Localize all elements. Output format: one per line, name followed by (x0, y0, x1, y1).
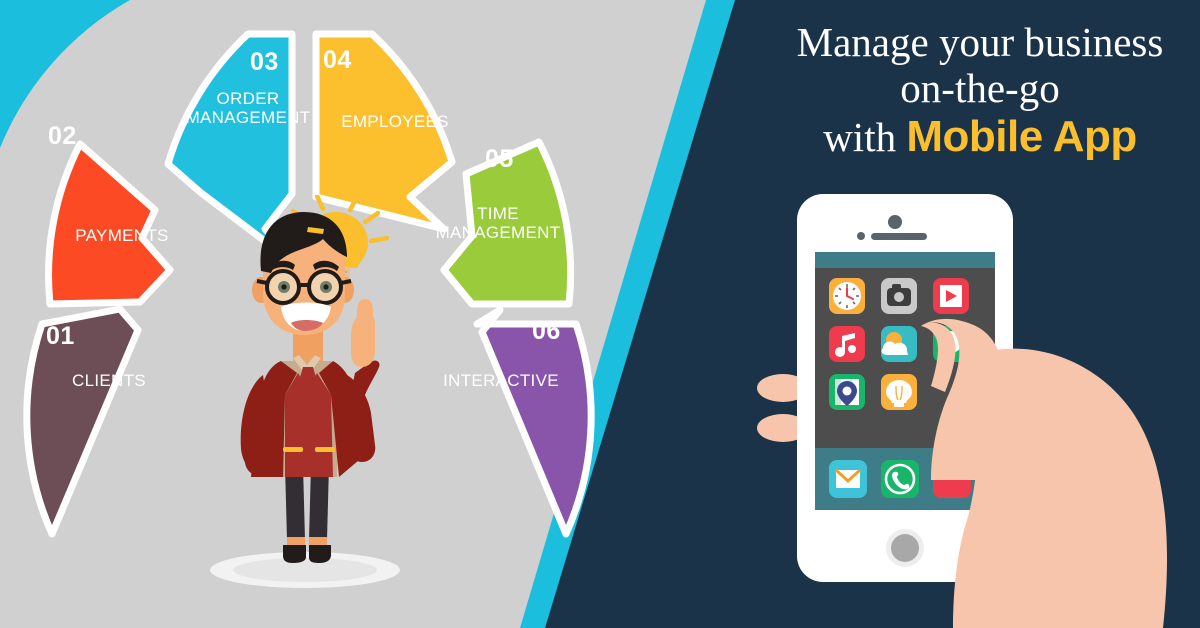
earpiece-speaker (871, 233, 927, 240)
infographic-banner: 02 03 04 05 06 01 CLIENTS PAYMENTS ORDER… (0, 0, 1200, 628)
status-bar (815, 252, 995, 268)
sock-left (287, 537, 305, 546)
floor-shadow-inner (233, 558, 377, 582)
wheel-segment-06[interactable] (477, 310, 591, 534)
front-camera-icon (888, 215, 902, 229)
home-button[interactable] (891, 534, 919, 562)
weather-app-icon[interactable] (881, 326, 917, 362)
phone-and-hand (735, 180, 1200, 628)
pupil-left (281, 284, 286, 289)
headline-line-2: on-the-go (770, 66, 1190, 112)
headline-line-3: with Mobile App (770, 112, 1190, 161)
shoe-right (309, 545, 331, 563)
character-svg (205, 195, 425, 595)
index-finger (357, 299, 373, 331)
mail-app-icon[interactable] (829, 460, 867, 498)
pocket-right (315, 447, 335, 452)
headline-block: Manage your business on-the-go with Mobi… (770, 20, 1190, 161)
phone-svg (735, 180, 1200, 628)
camera-app-icon[interactable] (881, 278, 917, 314)
wheel-segment-02[interactable] (49, 144, 170, 304)
sock-right (309, 537, 327, 546)
headline-line-3-prefix: with (823, 114, 906, 160)
businessman-character (205, 195, 425, 595)
proximity-sensor-icon (857, 232, 865, 240)
video-app-icon[interactable] (933, 278, 969, 314)
forearm-right (351, 360, 380, 401)
clock-app-icon[interactable] (829, 278, 865, 314)
pupil-right (323, 284, 328, 289)
wheel-segment-01[interactable] (27, 309, 138, 534)
shoe-left (283, 545, 306, 563)
headline-accent: Mobile App (906, 112, 1136, 161)
music-app-icon[interactable] (829, 326, 865, 362)
phone-app-icon[interactable] (881, 460, 919, 498)
jacket-front (285, 373, 333, 477)
maps-app-icon[interactable] (829, 374, 865, 410)
ideas-app-icon[interactable] (881, 374, 917, 410)
pocket-left (283, 447, 303, 452)
wheel-segment-05[interactable] (444, 142, 571, 304)
headline-line-1: Manage your business (770, 20, 1190, 66)
